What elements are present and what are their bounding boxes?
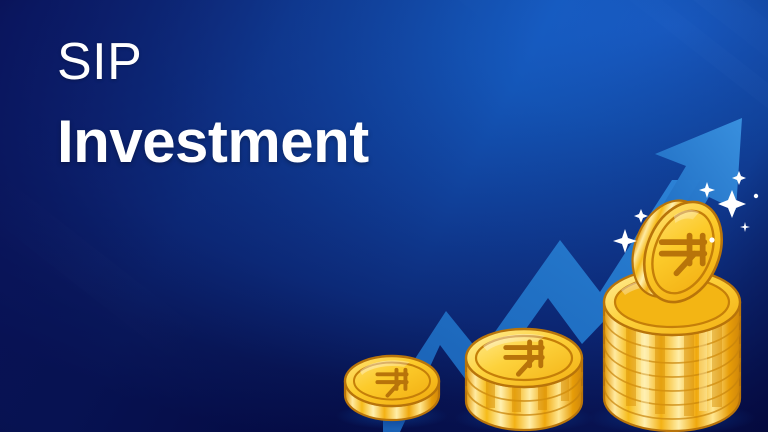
page-title-investment: Investment: [57, 112, 369, 172]
coin-stack-small: [345, 356, 439, 420]
sparkle-large: [718, 190, 746, 218]
sip-investment-banner: SIP Investment: [0, 0, 768, 432]
sparkle-dot: [754, 194, 758, 198]
sparkle-tiny: [740, 222, 750, 232]
page-title-sip: SIP: [57, 36, 369, 88]
sparkle-medium: [699, 182, 715, 198]
sparkle-small: [732, 171, 746, 185]
coin-stack-medium: [466, 329, 582, 430]
title-block: SIP Investment: [57, 36, 369, 172]
sparkle-dot: [709, 237, 714, 242]
